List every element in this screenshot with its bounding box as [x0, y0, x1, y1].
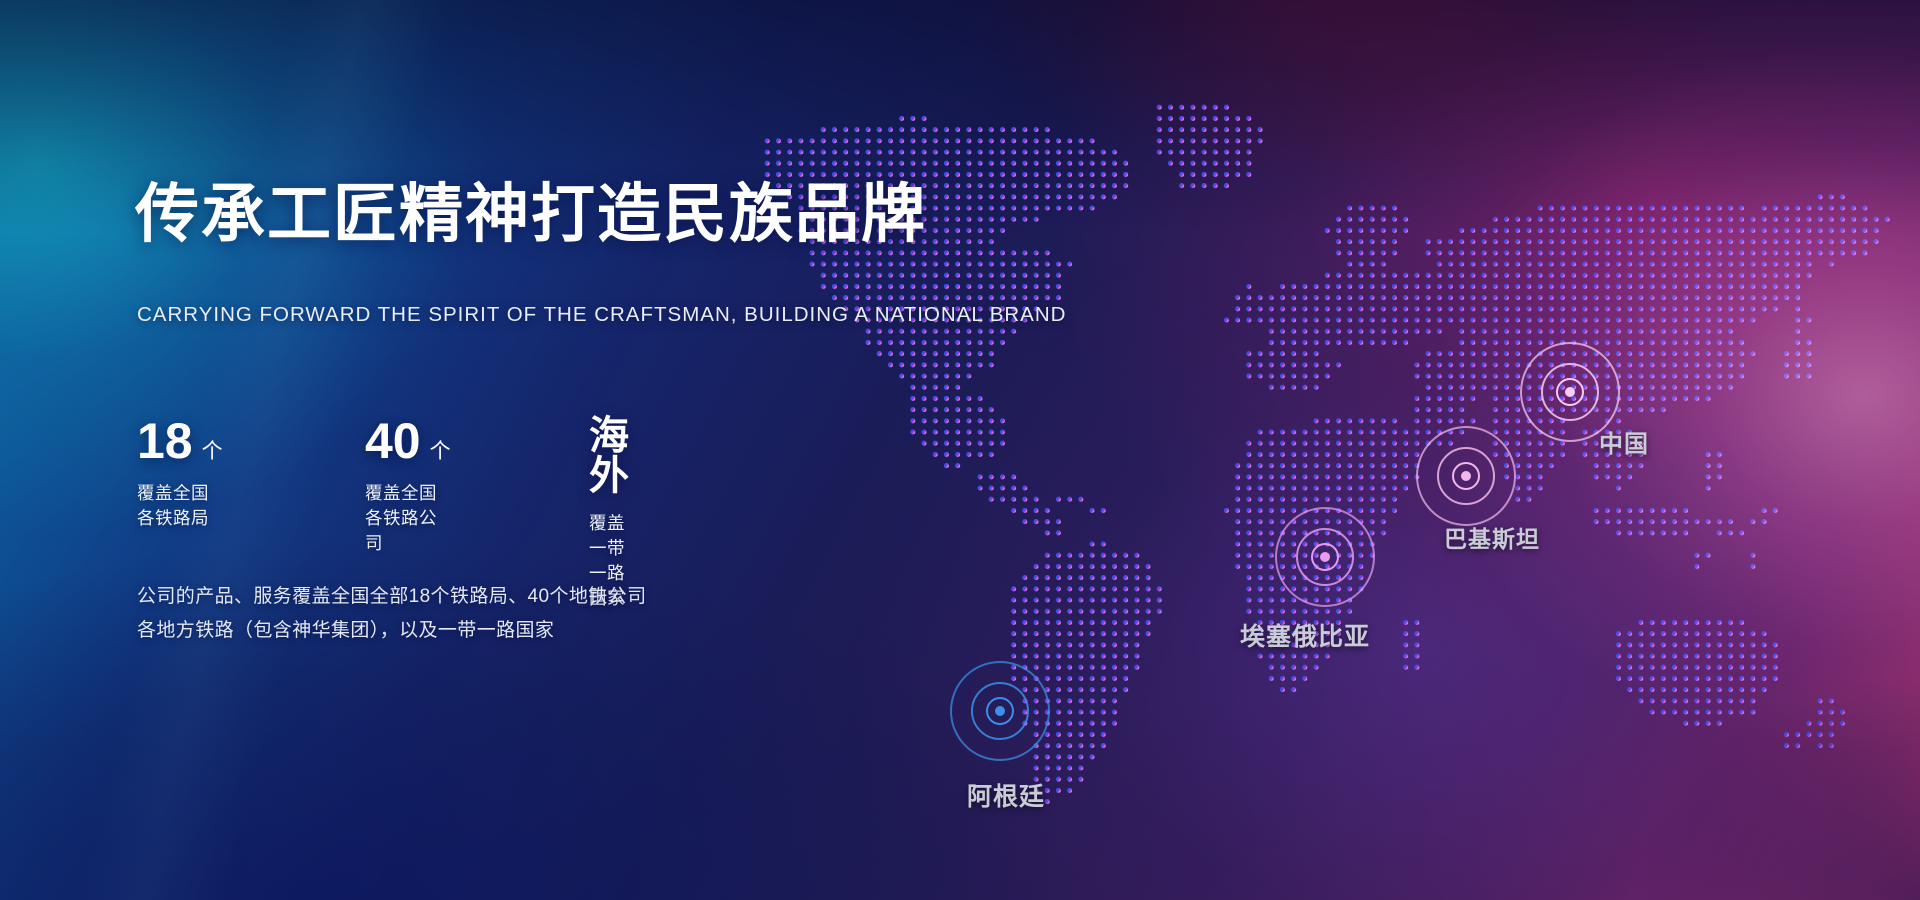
stat-item: 18个覆盖全国各铁路局 — [137, 416, 223, 530]
page-subtitle: CARRYING FORWARD THE SPIRIT OF THE CRAFT… — [137, 303, 1066, 327]
map-marker-label: 埃塞俄比亚 — [1240, 617, 1370, 653]
description-line: 各地方铁路（包含神华集团），以及一带一路国家 — [137, 614, 646, 648]
stat-item: 40个覆盖全国各铁路公司 — [365, 416, 451, 555]
marker-ring — [1565, 387, 1575, 397]
description-line: 公司的产品、服务覆盖全国全部18个铁路局、40个地铁公司 — [137, 580, 646, 614]
stat-value: 海外 — [589, 416, 631, 496]
marker-ring — [1461, 471, 1471, 481]
stat-value: 40 — [365, 416, 421, 466]
stat-value-row: 海外 — [589, 416, 631, 496]
map-marker-label: 中国 — [1599, 424, 1649, 459]
marker-ring — [995, 706, 1005, 716]
map-marker-label: 阿根廷 — [967, 777, 1045, 813]
stat-value: 18 — [137, 416, 193, 466]
stat-unit: 个 — [430, 435, 451, 465]
map-marker-label: 巴基斯坦 — [1444, 520, 1540, 554]
banner-stage: 中国巴基斯坦埃塞俄比亚阿根廷 传承工匠精神打造民族品牌 CARRYING FOR… — [0, 0, 1920, 900]
description-paragraph: 公司的产品、服务覆盖全国全部18个铁路局、40个地铁公司各地方铁路（包含神华集团… — [137, 580, 646, 648]
stat-caption: 覆盖全国各铁路局 — [137, 480, 223, 530]
page-title: 传承工匠精神打造民族品牌 — [135, 182, 927, 246]
stat-caption: 覆盖全国各铁路公司 — [365, 480, 451, 555]
stat-unit: 个 — [202, 435, 223, 465]
marker-ring — [1320, 552, 1330, 562]
stat-value-row: 40个 — [365, 416, 451, 466]
stat-value-row: 18个 — [137, 416, 223, 466]
